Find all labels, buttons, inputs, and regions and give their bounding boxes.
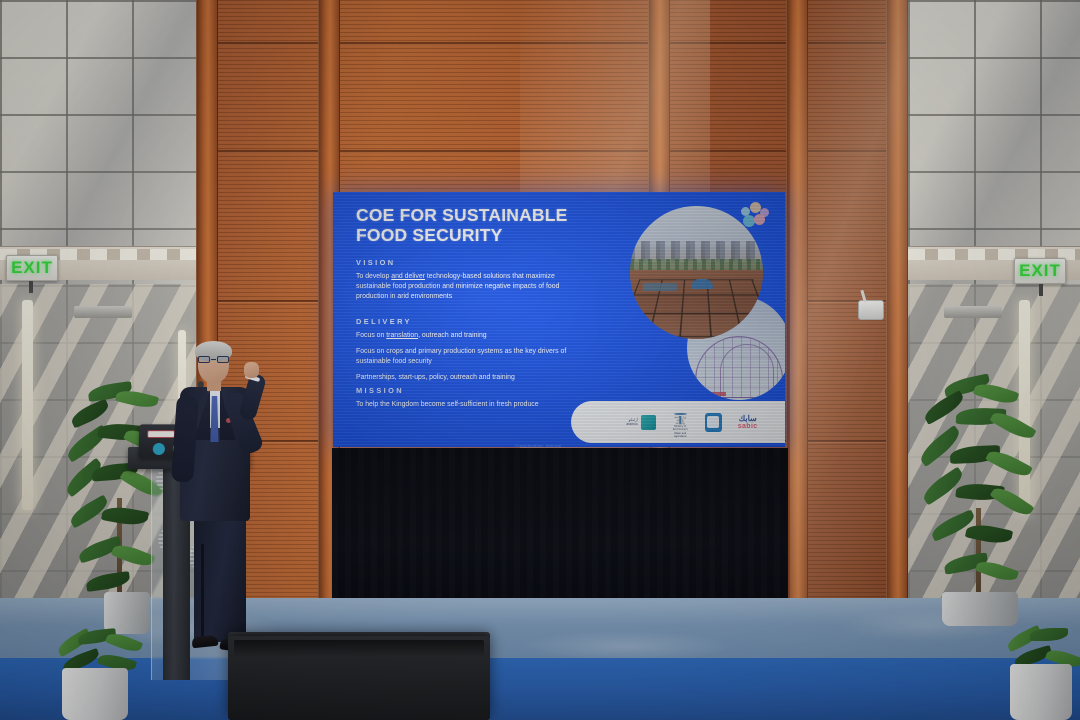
laptop-sticker <box>147 430 175 438</box>
ministry-of-environment-water-agriculture-logo: وزارة البيئة والمياه والزراعة Ministry o… <box>672 413 689 432</box>
sabic-logo: سابك sabic <box>738 414 758 430</box>
presenter-shoe-left <box>191 635 218 649</box>
sabic-logo-arabic: سابك <box>739 414 757 423</box>
led-presentation-screen[interactable]: COE FOR SUSTAINABLE FOOD SECURITY VISION… <box>333 192 785 447</box>
wifi-access-point <box>858 300 884 320</box>
leaf <box>1030 628 1068 641</box>
aramco-logo-mark <box>641 415 656 430</box>
leaf <box>973 380 1019 408</box>
leaf <box>975 557 1019 585</box>
section-body-vision: To develop and deliver technology-based … <box>356 272 584 302</box>
section-body-delivery: Focus on translation, outreach and train… <box>356 331 584 383</box>
wall-light-strip <box>22 300 33 510</box>
mission-paragraph: To help the Kingdom become self-sufficie… <box>356 400 584 410</box>
glasses-lens-left <box>198 356 210 363</box>
exit-sign-stem <box>29 281 33 293</box>
leaf <box>990 483 1035 520</box>
photo-tent <box>691 279 713 289</box>
leaf <box>115 387 159 411</box>
door-closer <box>944 306 1002 318</box>
delivery-paragraph-3: Partnerships, start-ups, policy, outreac… <box>356 373 584 383</box>
ministry-logo-latin: Ministry of Environment Water and Agricu… <box>672 425 689 438</box>
leaf <box>101 504 149 528</box>
aramco-logo: أرامكو aramco <box>626 415 655 430</box>
presenter-leg-split <box>201 544 204 642</box>
wood-pilaster <box>786 0 808 600</box>
plant-left-front-planter <box>62 668 128 720</box>
slide-section-delivery: DELIVERY Focus on translation, outreach … <box>356 317 584 389</box>
bubble-4 <box>743 215 755 227</box>
exit-sign-label: EXIT <box>11 258 53 278</box>
conference-photo-scene: EXIT EXIT COE FOR SUSTAINABLE FOOD SECUR… <box>0 0 1080 720</box>
exit-sign-left: EXIT <box>6 255 58 281</box>
plant-right-front-planter <box>1010 664 1072 720</box>
presenter-glasses <box>198 356 229 364</box>
slide-section-vision: VISION To develop and deliver technology… <box>356 258 584 308</box>
bubble-5 <box>754 214 765 225</box>
presenter <box>176 344 268 660</box>
slide-title: COE FOR SUSTAINABLE FOOD SECURITY <box>356 206 606 246</box>
stage-drape <box>332 448 788 608</box>
glasses-bridge <box>211 359 216 360</box>
neom-logo-mark <box>707 416 719 428</box>
exit-sign-stem <box>1039 284 1043 296</box>
vision-paragraph: To develop and deliver technology-based … <box>356 272 584 302</box>
wood-pilaster <box>886 0 908 600</box>
coe-bubbles-logo <box>741 202 771 228</box>
sabic-logo-latin: sabic <box>738 423 758 430</box>
exit-sign-right: EXIT <box>1014 258 1066 284</box>
leaf <box>989 408 1036 444</box>
classification-footer: Classification: Internal <box>515 443 561 447</box>
leaf <box>985 446 1033 481</box>
presenter-hand-gesture <box>244 362 259 378</box>
neom-logo <box>705 413 722 432</box>
door-closer <box>74 306 132 318</box>
plant-right-tall <box>916 378 1046 603</box>
laptop-sticker <box>153 443 165 455</box>
delivery-paragraph-2: Focus on crops and primary production sy… <box>356 347 584 367</box>
aramco-logo-latin: aramco <box>626 422 637 426</box>
greenhouse-frame-inner <box>720 344 774 398</box>
section-body-mission: To help the Kingdom become self-sufficie… <box>356 400 584 410</box>
exit-sign-label: EXIT <box>1019 261 1061 281</box>
photo-shed <box>643 283 677 291</box>
slide-title-line-2: FOOD SECURITY <box>356 226 606 246</box>
greenhouse-accent <box>706 392 726 396</box>
section-heading-delivery: DELIVERY <box>356 317 584 326</box>
confidence-monitor <box>228 636 490 720</box>
glasses-lens-right <box>217 356 229 363</box>
plant-right-tall-planter <box>942 592 1018 626</box>
slide-section-mission: MISSION To help the Kingdom become self-… <box>356 386 584 416</box>
leaf <box>105 630 143 656</box>
leaf <box>85 571 131 592</box>
leaf <box>69 399 112 429</box>
leaf <box>965 521 1013 546</box>
ministry-emblem <box>674 413 687 415</box>
partner-logo-bar: أرامكو aramco وزارة البيئة والمياه والزر… <box>571 401 785 443</box>
section-heading-mission: MISSION <box>356 386 584 395</box>
delivery-paragraph-1: Focus on translation, outreach and train… <box>356 331 584 341</box>
slide-title-line-1: COE FOR SUSTAINABLE <box>356 206 606 226</box>
section-heading-vision: VISION <box>356 258 584 267</box>
